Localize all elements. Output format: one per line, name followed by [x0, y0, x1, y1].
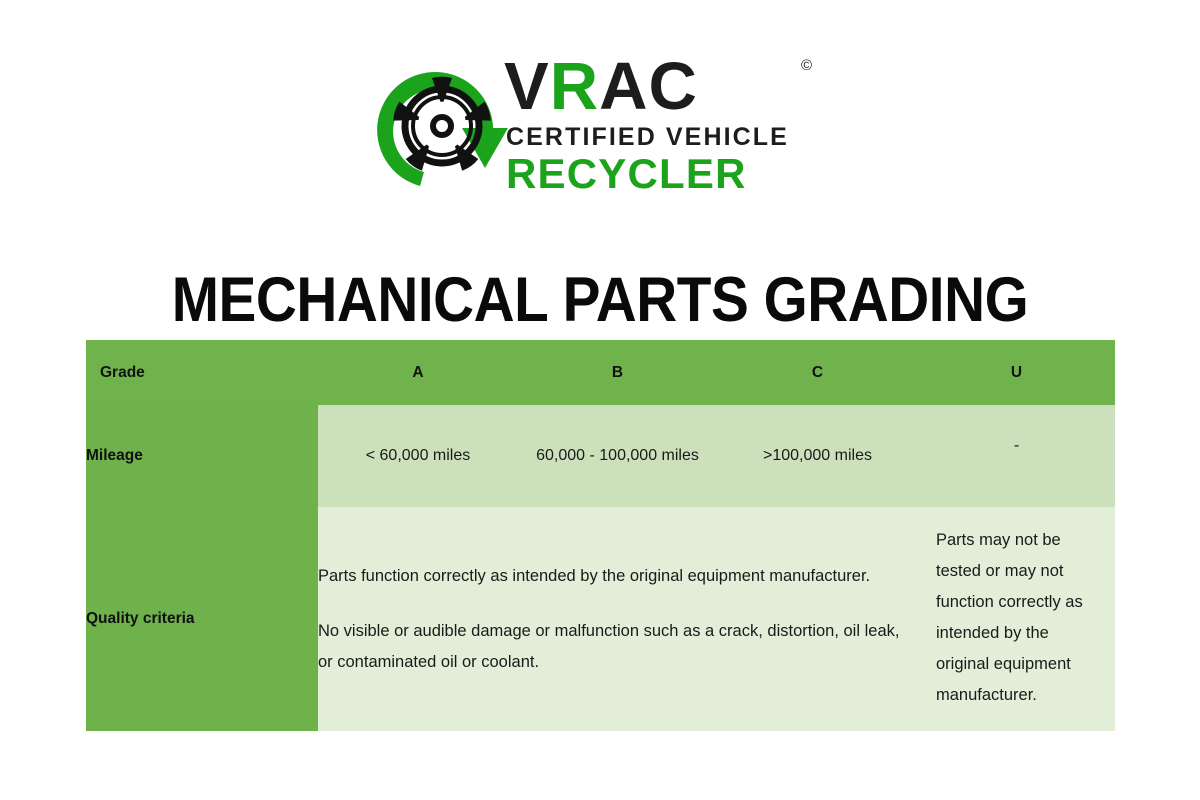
mechanical-parts-grading-table: Grade A B C U Mileage < 60,000 miles 60,…	[86, 340, 1115, 731]
header-grade-a: A	[318, 340, 518, 405]
cell-quality-criteria-u: Parts may not be tested or may not funct…	[918, 507, 1115, 731]
header-grade-u: U	[918, 340, 1115, 405]
logo-tagline-recycler: RECYCLER	[506, 152, 747, 196]
table-row-quality-criteria: Quality criteria Parts function correctl…	[86, 507, 1115, 731]
logo-wordmark: VRAC	[504, 52, 698, 122]
cell-quality-criteria-abc: Parts function correctly as intended by …	[318, 507, 918, 731]
row-label-mileage: Mileage	[86, 405, 318, 507]
logo-wordmark-ac: AC	[599, 49, 698, 124]
table-header-row: Grade A B C U	[86, 340, 1115, 405]
quality-criteria-paragraph-1: Parts function correctly as intended by …	[318, 561, 918, 592]
vrac-logo: VRAC © CERTIFIED VEHICLE RECYCLER	[374, 52, 834, 200]
recycling-wheel-icon	[374, 56, 514, 196]
logo-tagline-certified-vehicle: CERTIFIED VEHICLE	[506, 124, 789, 150]
header-grade-c: C	[717, 340, 918, 405]
header-grade-label: Grade	[86, 340, 318, 405]
cell-mileage-c: >100,000 miles	[717, 405, 918, 507]
row-label-quality-criteria: Quality criteria	[86, 507, 318, 731]
cell-mileage-b: 60,000 - 100,000 miles	[518, 405, 717, 507]
logo-wordmark-r: R	[550, 49, 599, 124]
page-title: MECHANICAL PARTS GRADING	[60, 264, 1140, 336]
quality-criteria-paragraph-2: No visible or audible damage or malfunct…	[318, 616, 918, 678]
copyright-icon: ©	[801, 58, 812, 73]
cell-mileage-a: < 60,000 miles	[318, 405, 518, 507]
cell-mileage-u: -	[918, 405, 1115, 507]
table-row-mileage: Mileage < 60,000 miles 60,000 - 100,000 …	[86, 405, 1115, 507]
logo-wordmark-v: V	[504, 49, 550, 124]
quality-criteria-u-paragraph: Parts may not be tested or may not funct…	[936, 525, 1093, 711]
header-grade-b: B	[518, 340, 717, 405]
